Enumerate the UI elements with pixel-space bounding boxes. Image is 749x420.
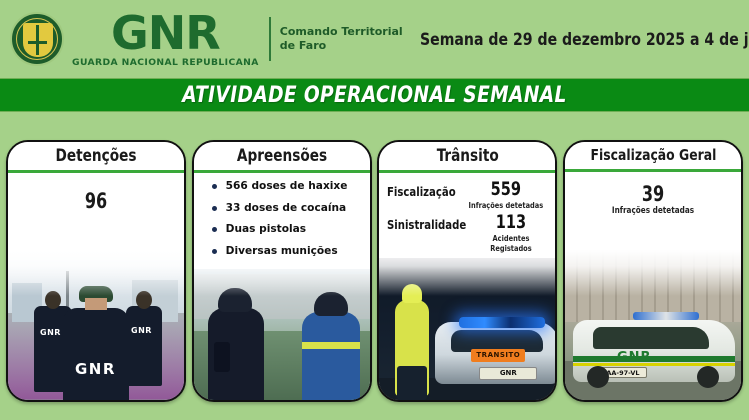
banner-title: ATIVIDADE OPERACIONAL SEMANAL: [182, 83, 567, 108]
card-header: Fiscalização Geral: [565, 142, 741, 172]
card-title-transito: Trânsito: [436, 147, 498, 165]
officer-center: GNR: [63, 308, 129, 400]
fiscalizacao-caption: Infrações detetadas: [581, 206, 725, 217]
week-range-label: Semana de 29 de dezembro 2025 a 4 de jan…: [414, 30, 749, 49]
header: GNR GUARDA NACIONAL REPUBLICANA Comando …: [0, 0, 749, 78]
transito-sign-label: TRANSITO: [471, 349, 525, 362]
card-body: 39 Infrações detetadas: [565, 172, 741, 219]
card-header: Detenções: [8, 142, 184, 173]
card-body: 566 doses de haxixe 33 doses de cocaína …: [194, 173, 370, 269]
card-header: Trânsito: [379, 142, 555, 173]
license-plate: GNR: [479, 367, 537, 380]
transito-sign: TRANSITO: [471, 349, 525, 362]
license-plate-label: GNR: [480, 368, 536, 379]
command-line-1: Comando Territorial: [280, 25, 403, 39]
card-title-apreensoes: Apreensões: [237, 147, 327, 165]
card-apreensoes: Apreensões 566 doses de haxixe 33 doses …: [192, 140, 372, 402]
gnr-logo-text: GNR: [111, 10, 220, 56]
card-fiscalizacao-geral: Fiscalização Geral 39 Infrações detetada…: [563, 140, 743, 402]
uniform-label-right: GNR: [131, 326, 152, 335]
detencoes-value: 96: [28, 179, 164, 213]
card-transito: Trânsito Fiscalização 559 Infrações dete…: [377, 140, 557, 402]
photo-two-officers-viewpoint: [194, 250, 370, 400]
card-body: 96: [8, 173, 184, 215]
gnr-logo-subtitle: GUARDA NACIONAL REPUBLICANA: [72, 58, 259, 67]
card-body: Fiscalização 559 Infrações detetadas Sin…: [379, 173, 555, 258]
apreensoes-list: 566 doses de haxixe 33 doses de cocaína …: [206, 181, 362, 256]
car-gnr-label: GNR: [617, 350, 652, 365]
patrol-car: GNR AA-97-VL: [573, 320, 735, 382]
stat-number: 113: [481, 212, 542, 233]
stat-number: 559: [470, 179, 541, 200]
photo-three-gnr-officers-street: GNR GNR GNR: [8, 250, 184, 400]
traffic-officer: [395, 300, 429, 396]
lightbar-icon: [459, 317, 545, 328]
stat-label: Sinistralidade: [387, 212, 466, 232]
officer-dark-uniform: [208, 308, 264, 400]
stat-caption: Acidentes Registados: [478, 234, 544, 253]
header-divider: [269, 17, 271, 61]
photo-gnr-patrol-car: GNR AA-97-VL: [565, 250, 741, 400]
stat-value-group: 559 Infrações detetadas: [464, 179, 548, 210]
stat-caption: Infrações detetadas: [467, 201, 544, 211]
stat-row-fiscalizacao: Fiscalização 559 Infrações detetadas: [387, 179, 547, 210]
uniform-label-left: GNR: [40, 328, 61, 337]
photo-night-traffic-stop: TRANSITO GNR: [379, 250, 555, 400]
uniform-label-center: GNR: [75, 360, 116, 378]
card-title-fiscalizacao-geral: Fiscalização Geral: [590, 147, 716, 164]
list-item: Duas pistolas: [206, 224, 362, 235]
card-detencoes: Detenções 96 GNR GNR: [6, 140, 186, 402]
list-item: 566 doses de haxixe: [206, 181, 362, 192]
list-item: 33 doses de cocaína: [206, 203, 362, 214]
fiscalizacao-value: 39: [585, 178, 721, 206]
gnr-emblem-icon: [10, 12, 64, 66]
poster-root: GNR GUARDA NACIONAL REPUBLICANA Comando …: [0, 0, 749, 420]
cards-row: Detenções 96 GNR GNR: [0, 140, 749, 404]
officer-blue-uniform: [302, 312, 360, 400]
command-line-2: de Faro: [280, 39, 403, 53]
stat-label: Fiscalização: [387, 179, 456, 199]
banner: ATIVIDADE OPERACIONAL SEMANAL: [0, 78, 749, 112]
gnr-logotype: GNR GUARDA NACIONAL REPUBLICANA: [72, 10, 259, 67]
list-item: Diversas munições: [206, 246, 362, 257]
stat-row-sinistralidade: Sinistralidade 113 Acidentes Registados: [387, 212, 547, 253]
officer-right: GNR: [126, 306, 162, 386]
stat-value-group: 113 Acidentes Registados: [475, 212, 547, 253]
command-name: Comando Territorial de Faro: [280, 25, 403, 53]
lightbar-icon: [633, 312, 699, 320]
card-header: Apreensões: [194, 142, 370, 173]
card-title-detencoes: Detenções: [55, 147, 136, 165]
